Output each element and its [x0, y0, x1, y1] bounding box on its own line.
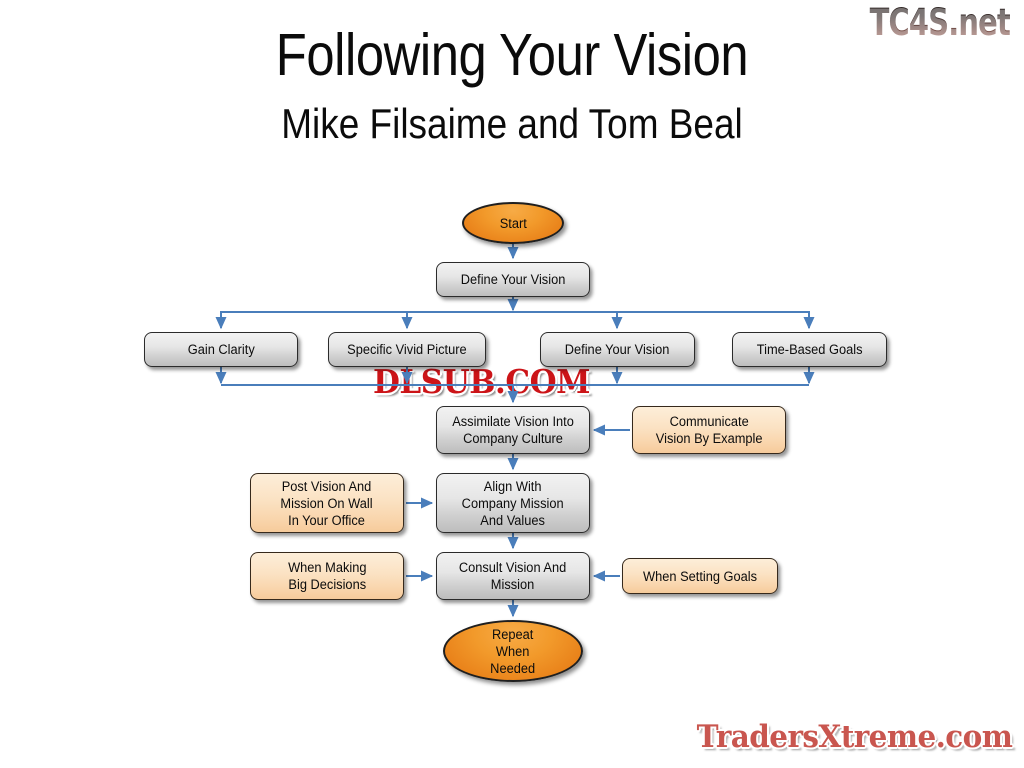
- node-consult-vision-and-mission-label: Consult Vision AndMission: [454, 559, 573, 593]
- flowchart: Start Define Your Vision Gain Clarity Sp…: [0, 0, 1024, 768]
- edge-bus-define-your-vision-2: [513, 312, 617, 328]
- node-align-with-company-mission[interactable]: Align WithCompany MissionAnd Values: [436, 473, 590, 533]
- node-specific-vivid-picture-label: Specific Vivid Picture: [342, 341, 473, 358]
- node-gain-clarity[interactable]: Gain Clarity: [144, 332, 298, 367]
- node-define-your-vision-2[interactable]: Define Your Vision: [540, 332, 695, 367]
- node-communicate-vision-label: CommunicateVision By Example: [650, 413, 768, 447]
- node-define-your-vision-1-label: Define Your Vision: [455, 271, 571, 288]
- edge-bus-time-based-goals: [513, 312, 809, 328]
- node-when-making-big-decisions[interactable]: When MakingBig Decisions: [250, 552, 404, 600]
- node-time-based-goals-label: Time-Based Goals: [751, 341, 868, 358]
- node-define-your-vision-2-label: Define Your Vision: [560, 341, 676, 358]
- node-assimilate-vision-label: Assimilate Vision IntoCompany Culture: [446, 413, 579, 447]
- node-align-with-company-mission-label: Align WithCompany MissionAnd Values: [456, 478, 569, 529]
- node-when-setting-goals-label: When Setting Goals: [637, 568, 762, 585]
- node-post-vision-on-wall[interactable]: Post Vision AndMission On WallIn Your Of…: [250, 473, 404, 533]
- edge-bus-gain-clarity: [221, 312, 513, 328]
- node-when-making-big-decisions-label: When MakingBig Decisions: [282, 559, 372, 593]
- node-assimilate-vision[interactable]: Assimilate Vision IntoCompany Culture: [436, 406, 590, 454]
- node-start-label: Start: [494, 215, 532, 232]
- node-gain-clarity-label: Gain Clarity: [182, 341, 260, 358]
- node-consult-vision-and-mission[interactable]: Consult Vision AndMission: [436, 552, 590, 600]
- node-define-your-vision-1[interactable]: Define Your Vision: [436, 262, 590, 297]
- node-post-vision-on-wall-label: Post Vision AndMission On WallIn Your Of…: [275, 478, 379, 529]
- node-communicate-vision[interactable]: CommunicateVision By Example: [632, 406, 786, 454]
- edge-bus-specific-vivid-picture: [407, 312, 513, 328]
- node-when-setting-goals[interactable]: When Setting Goals: [622, 558, 778, 594]
- node-repeat-when-needed[interactable]: RepeatWhenNeeded: [443, 620, 583, 682]
- node-specific-vivid-picture[interactable]: Specific Vivid Picture: [328, 332, 486, 367]
- node-start[interactable]: Start: [462, 202, 564, 244]
- node-repeat-when-needed-label: RepeatWhenNeeded: [485, 626, 541, 677]
- node-time-based-goals[interactable]: Time-Based Goals: [732, 332, 887, 367]
